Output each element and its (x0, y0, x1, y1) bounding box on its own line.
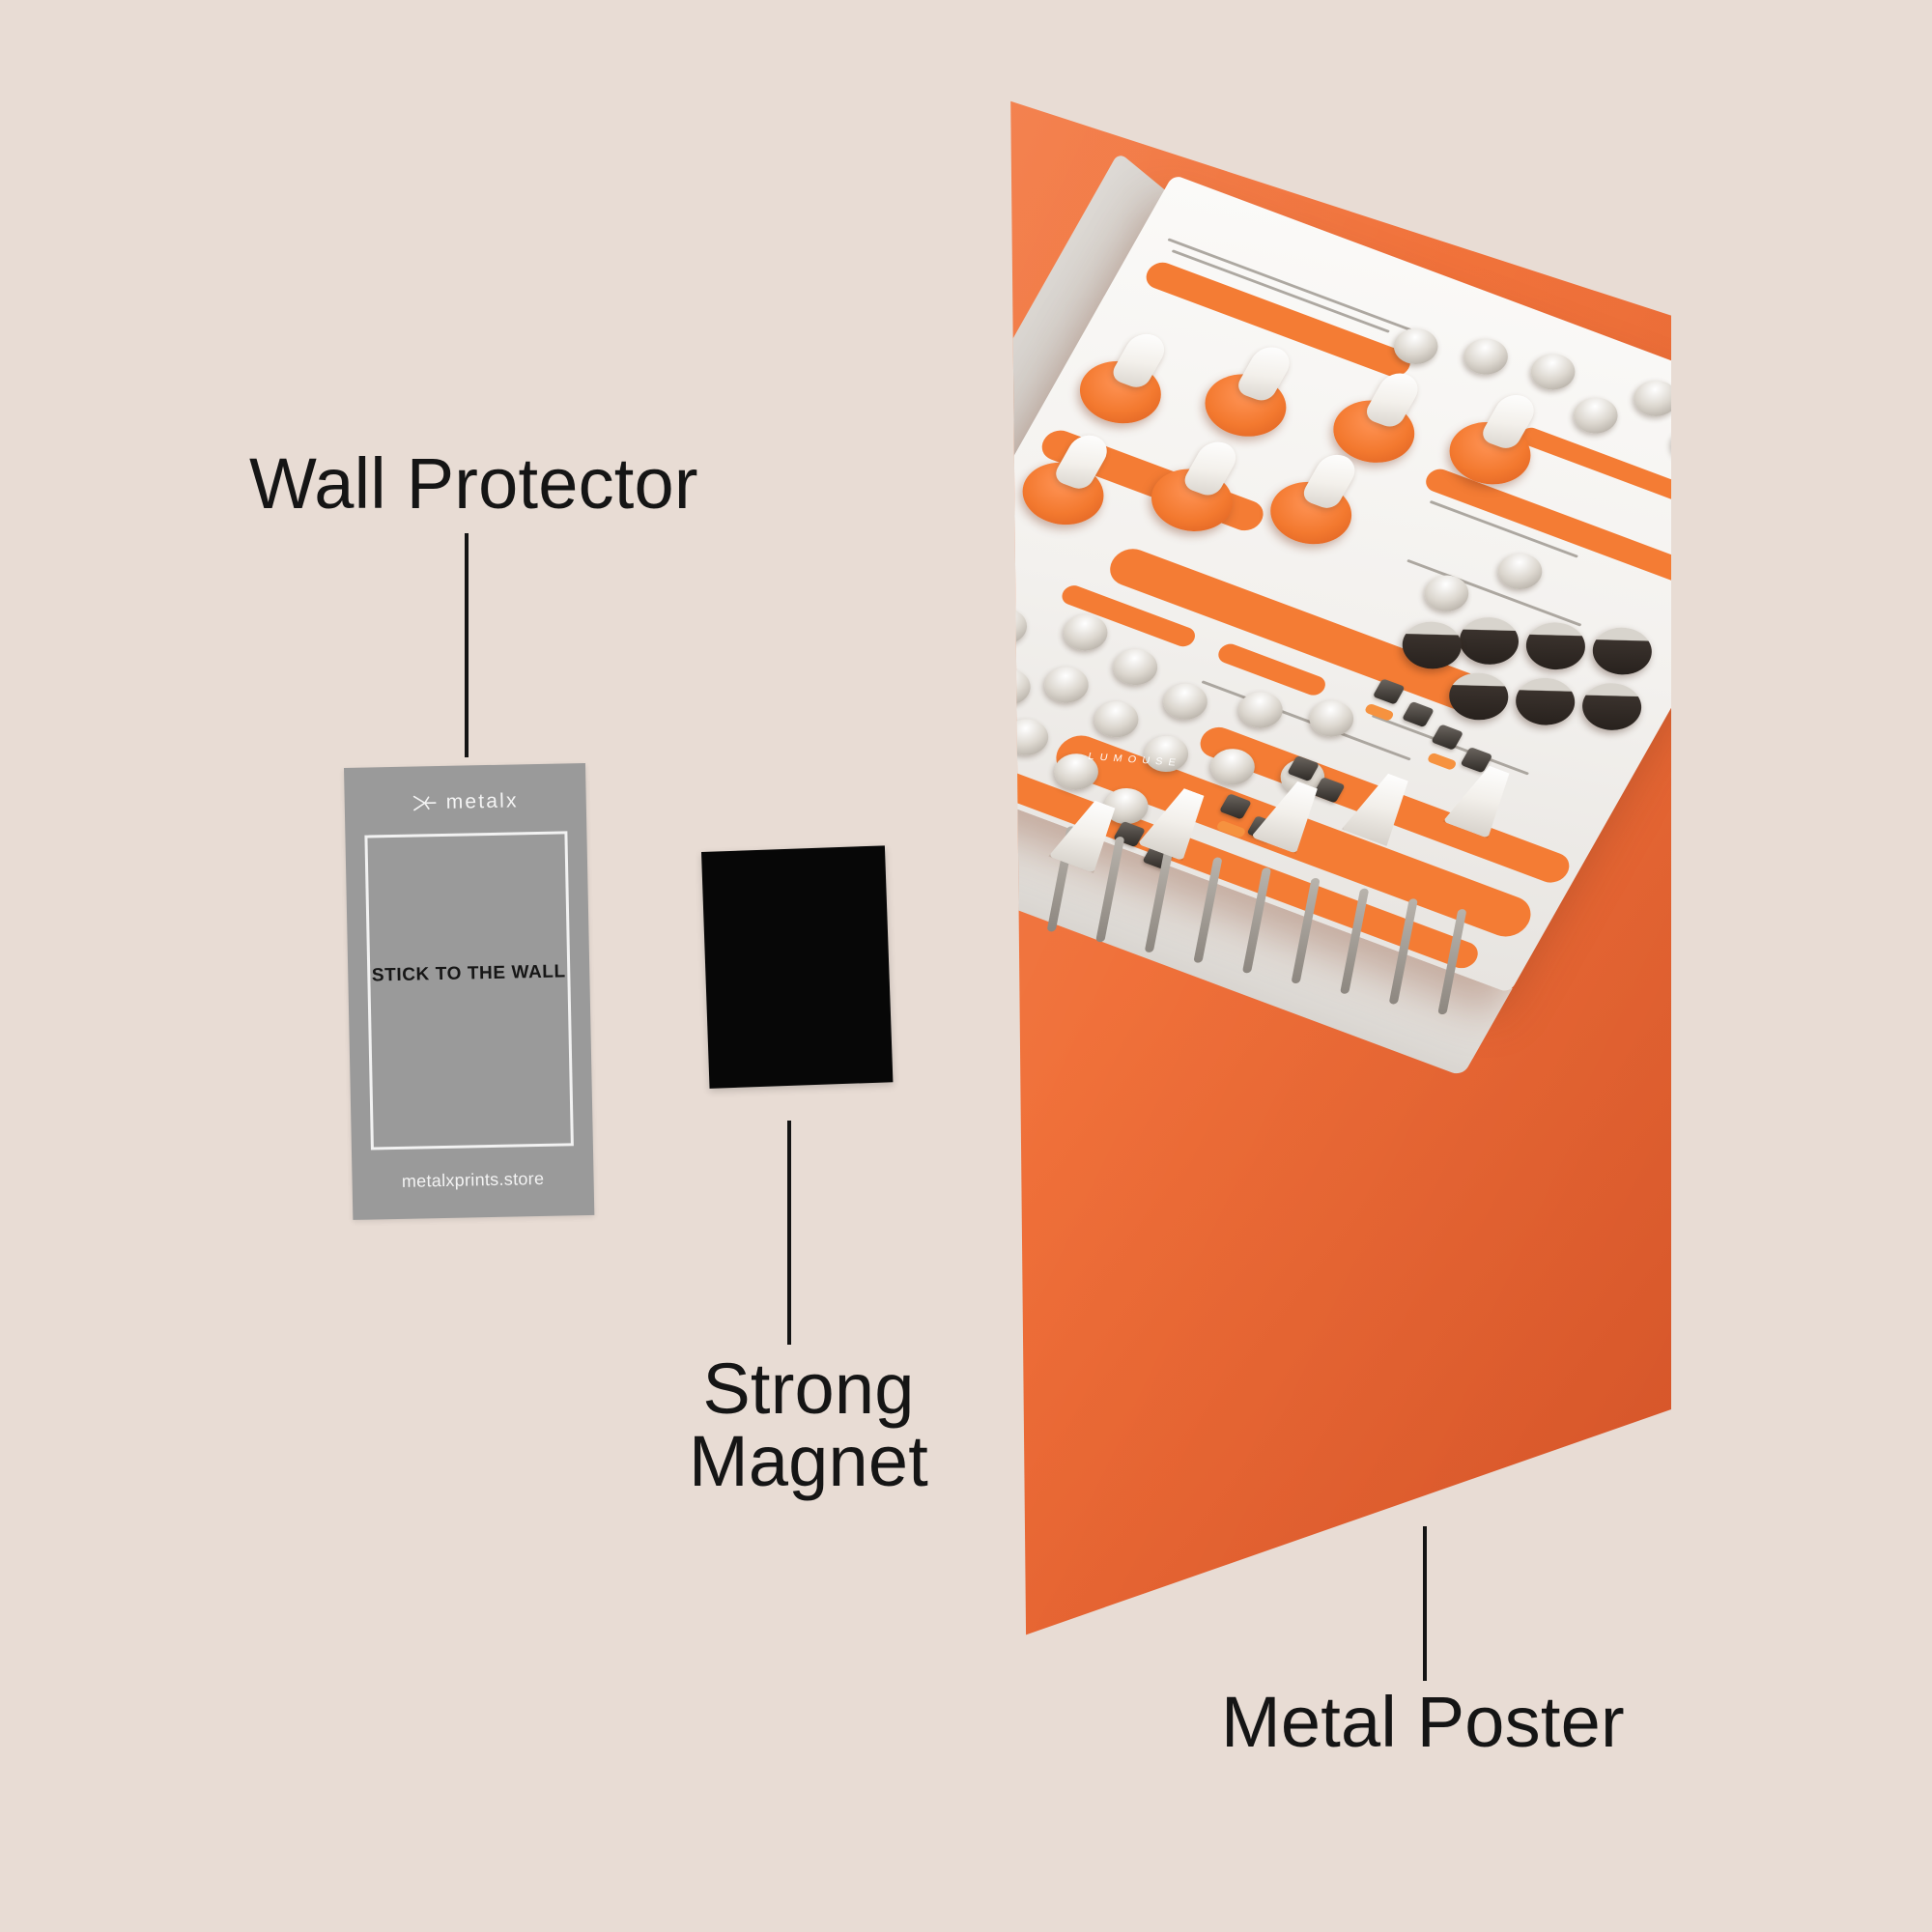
chrome-knob[interactable] (1005, 603, 1034, 650)
dark-knob[interactable] (1583, 620, 1662, 683)
dark-knob[interactable] (1573, 675, 1651, 738)
panel-switch[interactable] (1402, 701, 1435, 727)
chrome-knob[interactable] (1005, 713, 1056, 760)
chrome-knob[interactable] (1417, 570, 1476, 617)
orange-knob[interactable] (1067, 351, 1174, 434)
dark-knob[interactable] (1517, 614, 1595, 677)
chrome-knob[interactable] (1457, 332, 1516, 380)
dark-knob[interactable] (1506, 670, 1584, 733)
brand-name: metalx (445, 789, 519, 814)
orange-knob[interactable] (1010, 452, 1117, 535)
card-store-url: metalxprints.store (352, 1168, 593, 1193)
leader-line-metal-poster (1423, 1526, 1427, 1681)
chrome-knob[interactable] (1106, 643, 1165, 691)
infographic-stage: LUMOUSE metalx STICK TO THE WALL metalxp… (0, 0, 1932, 1932)
leader-line-wall-protector (465, 533, 469, 757)
chrome-knob[interactable] (1037, 661, 1096, 708)
callout-label-strong-magnet: Strong Magnet (688, 1352, 929, 1498)
card-inner-frame (364, 831, 574, 1150)
chrome-knob[interactable] (1627, 375, 1671, 422)
synthesizer-artwork: LUMOUSE (1005, 174, 1671, 1332)
brand-logo: metalx (345, 788, 586, 816)
callout-label-metal-poster: Metal Poster (1221, 1686, 1625, 1758)
chrome-knob[interactable] (1156, 678, 1215, 725)
led-indicator (1427, 753, 1458, 771)
chrome-knob[interactable] (1005, 663, 1037, 710)
metal-poster-panel[interactable]: LUMOUSE (1005, 92, 1671, 1657)
strong-magnet-square[interactable] (701, 845, 893, 1088)
dark-knob[interactable] (1450, 610, 1528, 672)
orange-knob[interactable] (1258, 471, 1364, 554)
wall-protector-card[interactable]: metalx STICK TO THE WALL metalxprints.st… (344, 763, 594, 1220)
chrome-knob[interactable] (1087, 696, 1146, 743)
metalx-cross-icon (412, 792, 437, 814)
chrome-knob[interactable] (1523, 348, 1582, 395)
orange-knob[interactable] (1193, 363, 1299, 446)
chrome-knob[interactable] (1491, 548, 1549, 595)
callout-label-wall-protector: Wall Protector (249, 447, 698, 520)
chrome-knob[interactable] (1567, 391, 1626, 439)
chrome-knob[interactable] (1663, 420, 1671, 468)
leader-line-strong-magnet (787, 1121, 791, 1345)
chrome-knob[interactable] (1232, 686, 1291, 733)
